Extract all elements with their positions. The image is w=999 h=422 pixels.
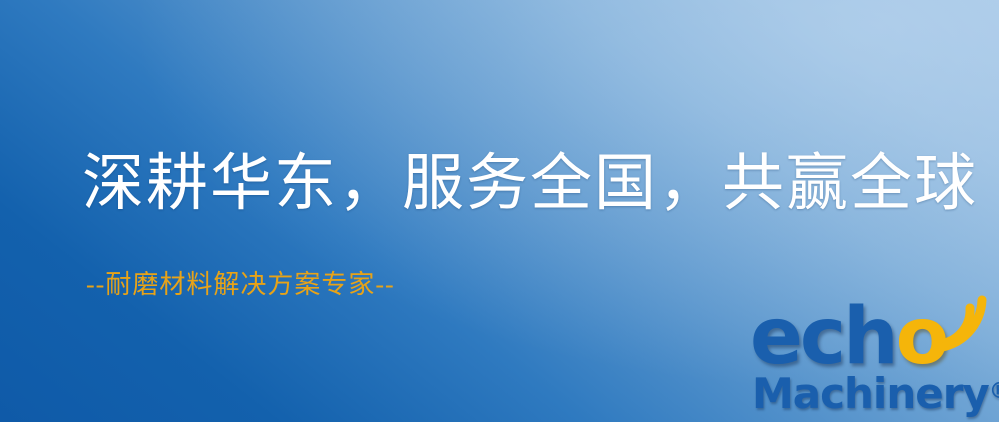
logo-tagline: Machinery® [752,370,999,416]
promo-banner: 深耕华东，服务全国，共赢全球 --耐磨材料解决方案专家-- echo Machi… [0,0,999,422]
registered-trademark-icon: ® [989,379,999,404]
logo-echo-text: echo [750,298,946,376]
page-subtitle: --耐磨材料解决方案专家-- [86,264,395,301]
page-title: 深耕华东，服务全国，共赢全球 [82,152,978,217]
logo-tagline-text: Machinery [752,369,989,418]
company-logo: echo Machinery® [748,296,999,422]
signal-arcs-icon [930,294,996,354]
